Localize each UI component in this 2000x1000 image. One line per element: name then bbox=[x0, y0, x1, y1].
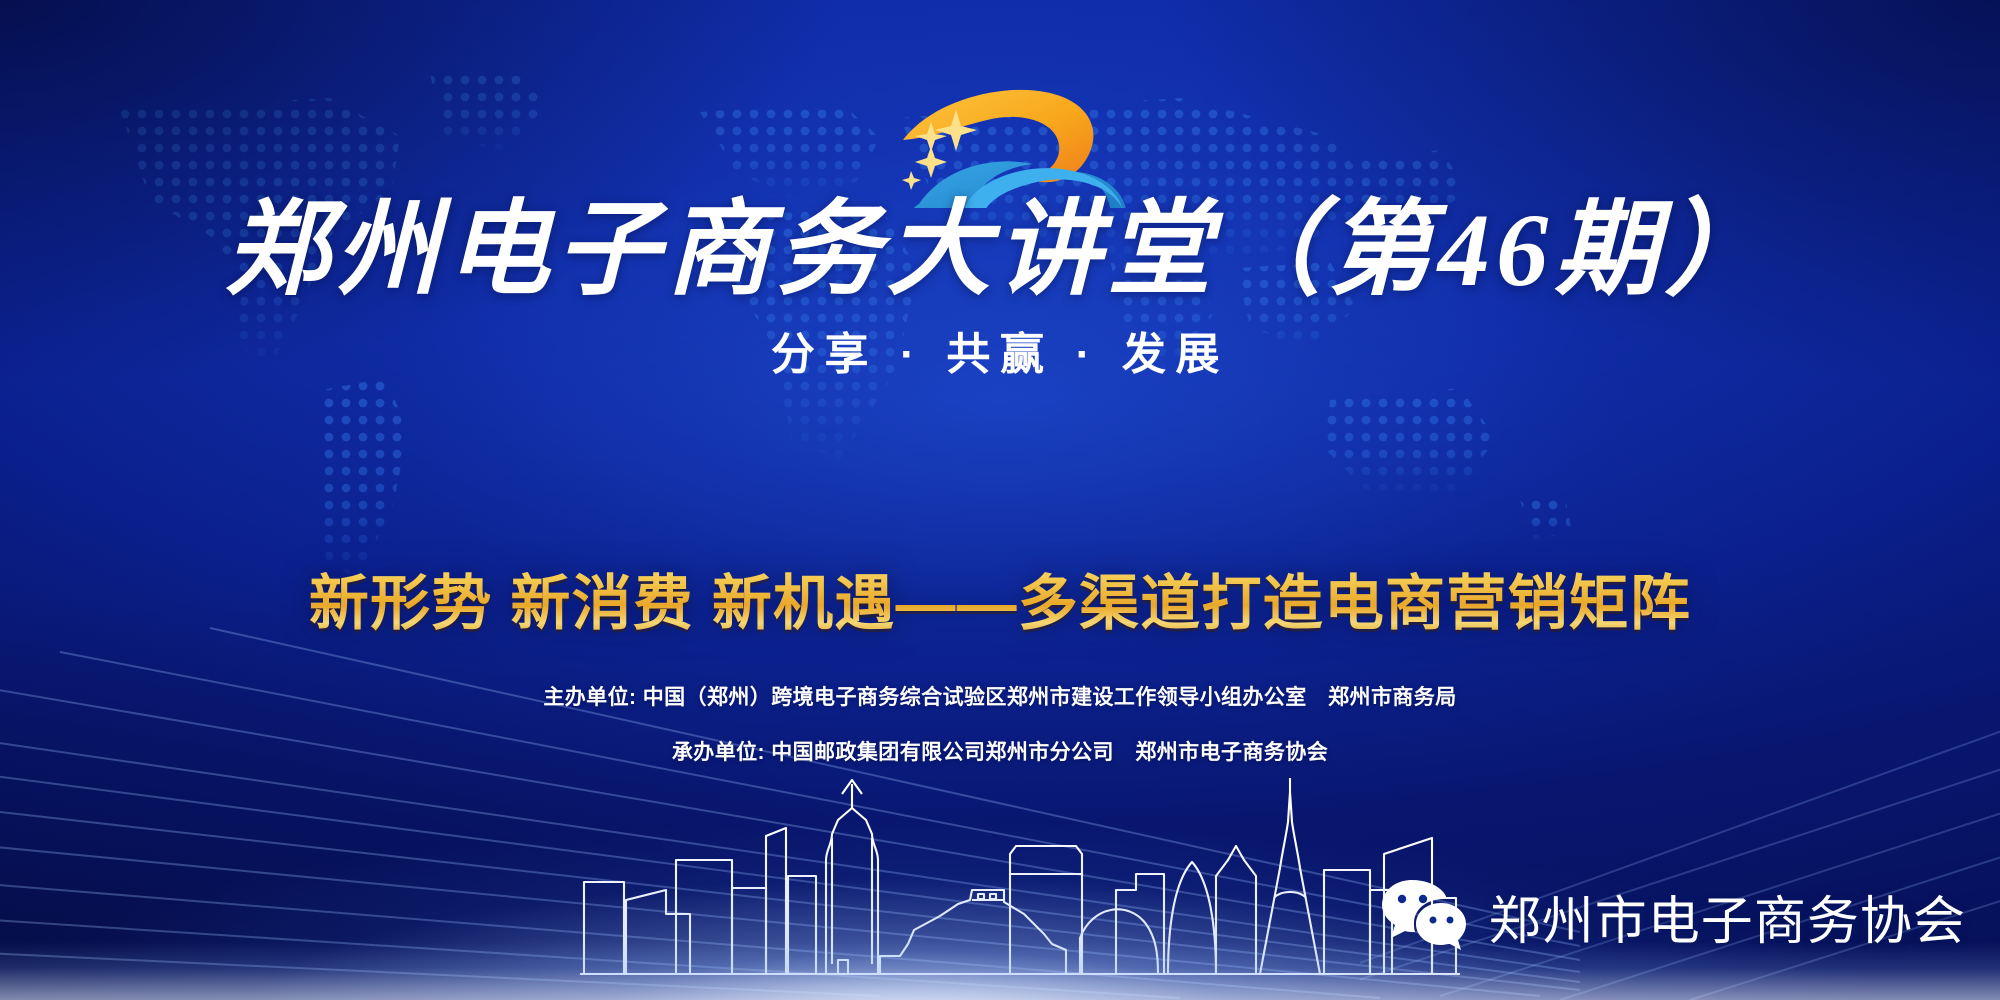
poster-canvas: 郑州电子商务大讲堂（第46期） 分享 · 共赢 · 发展 新形势 新消费 新机遇… bbox=[0, 0, 2000, 1000]
light-rays bbox=[0, 580, 1580, 1000]
page-subtitle: 分享 · 共赢 · 发展 bbox=[0, 318, 2000, 382]
topic-headline: 新形势 新消费 新机遇——多渠道打造电商营销矩阵 bbox=[0, 555, 2000, 642]
co-organizations: 承办单位: 中国邮政集团有限公司郑州市分公司 郑州市电子商务协会 bbox=[0, 736, 2000, 766]
host-organizations: 主办单位: 中国（郑州）跨境电子商务综合试验区郑州市建设工作领导小组办公室 郑州… bbox=[0, 681, 2000, 711]
city-skyline-outline bbox=[580, 778, 1460, 978]
wechat-icon bbox=[1381, 878, 1467, 954]
wechat-account-block: 郑州市电子商务协会 bbox=[1381, 878, 1966, 954]
wechat-account-name: 郑州市电子商务协会 bbox=[1489, 879, 1966, 954]
page-title: 郑州电子商务大讲堂（第46期） bbox=[0, 196, 2000, 305]
zhengzhou-ecommerce-logo bbox=[865, 78, 1135, 208]
